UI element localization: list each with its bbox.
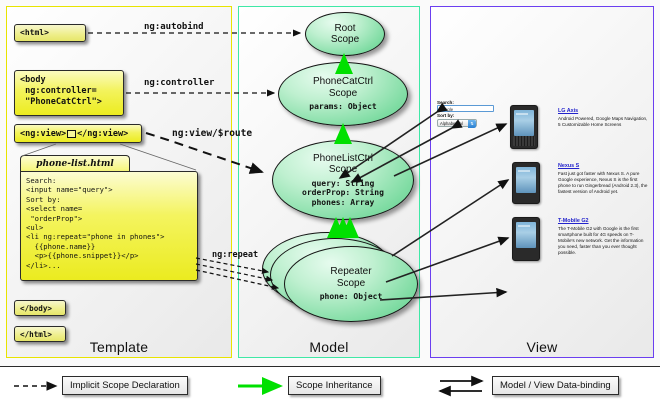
phone-snippet-t-mobile-g2: The T-Mobile G2 with Google is the first… <box>558 226 650 256</box>
phone-thumbnail-lg-axis <box>510 105 538 149</box>
search-input[interactable]: Google <box>437 105 494 112</box>
phone-thumbnail-t-mobile-g2 <box>512 217 540 261</box>
phone-screen <box>516 222 536 248</box>
scope-repeater-title-2: Scope <box>337 278 365 290</box>
legend-item-scope-inheritance: Scope Inheritance <box>288 376 381 394</box>
legend-label-scope-inheritance: Scope Inheritance <box>288 376 381 395</box>
legend: Implicit Scope Declaration Scope Inherit… <box>0 366 660 406</box>
ngview-placeholder-square <box>67 130 76 138</box>
scope-repeater-front: Repeater Scope phone: Object <box>284 246 418 322</box>
legend-item-data-binding: Model / View Data-binding <box>492 376 619 394</box>
scope-repeater-title-1: Repeater <box>330 266 371 278</box>
panel-title-view: View <box>431 339 653 355</box>
sort-label: Sort by: <box>437 113 499 118</box>
phone-keyboard <box>513 136 535 146</box>
code-box-body-close: </body> <box>14 300 66 316</box>
panel-title-model: Model <box>239 339 419 355</box>
phone-entry-lg-axis: LG Axis Android Powered, Google Maps Nav… <box>558 108 650 128</box>
legend-label-data-binding: Model / View Data-binding <box>492 376 619 395</box>
label-ng-view-route: ng:view/$route <box>172 128 252 139</box>
scope-phonelistctrl: PhoneListCtrl Scope query: String orderP… <box>272 140 414 220</box>
label-ng-repeat: ng:repeat <box>212 250 258 260</box>
scope-phonecatctrl-props: params: Object <box>309 102 376 112</box>
sort-select-value: Alphabetical <box>440 121 463 126</box>
scope-phonelistctrl-title-2: Scope <box>329 164 357 176</box>
code-box-ngview: <ng:view></ng:view> <box>14 124 142 143</box>
scope-phonelistctrl-title-1: PhoneListCtrl <box>313 153 373 165</box>
phone-screen <box>514 110 534 136</box>
view-search-form: Search: Google Sort by: Alphabetical ⇅ <box>437 100 499 127</box>
scope-phonecatctrl: PhoneCatCtrl Scope params: Object <box>278 62 408 126</box>
phone-entry-nexus-s: Nexus S Fast just got faster with Nexus … <box>558 163 650 195</box>
code-box-body-open: <body ng:controller= "PhoneCatCtrl"> <box>14 70 124 116</box>
scope-phonecatctrl-title-1: PhoneCatCtrl <box>313 76 373 88</box>
phone-link-nexus-s[interactable]: Nexus S <box>558 163 650 169</box>
code-box-html-open: <html> <box>14 24 86 42</box>
phone-snippet-nexus-s: Fast just got faster with Nexus S. A pur… <box>558 171 650 195</box>
phone-link-t-mobile-g2[interactable]: T-Mobile G2 <box>558 218 650 224</box>
scope-repeater-stack: Repeater Scope phone: Object <box>262 232 422 324</box>
legend-item-implicit-scope: Implicit Scope Declaration <box>62 376 188 394</box>
label-ng-controller: ng:controller <box>144 78 214 88</box>
phone-entry-t-mobile-g2: T-Mobile G2 The T-Mobile G2 with Google … <box>558 218 650 256</box>
scope-root-title-1: Root <box>334 23 355 35</box>
scope-repeater-props: phone: Object <box>320 292 383 302</box>
scope-phonecatctrl-title-2: Scope <box>329 88 357 100</box>
ngview-open-tag: <ng:view> <box>20 129 66 139</box>
diagram-canvas: Template Model View <html> <body ng:cont… <box>0 0 660 405</box>
code-box-html-close: </html> <box>14 326 66 342</box>
scope-root: Root Scope <box>305 12 385 56</box>
scope-phonelistctrl-props: query: String orderProp: String phones: … <box>302 179 384 208</box>
phone-link-lg-axis[interactable]: LG Axis <box>558 108 650 114</box>
template-file-card: phone-list.html Search: <input name="que… <box>20 155 198 295</box>
ngview-close-tag: </ng:view> <box>77 129 128 139</box>
sort-select[interactable]: Alphabetical ⇅ <box>437 119 477 127</box>
scope-root-title-2: Scope <box>331 34 359 46</box>
label-ng-autobind: ng:autobind <box>144 22 204 32</box>
phone-snippet-lg-axis: Android Powered, Google Maps Navigation,… <box>558 116 650 128</box>
legend-label-implicit-scope: Implicit Scope Declaration <box>62 376 188 395</box>
phone-screen <box>516 167 536 193</box>
chevron-updown-icon: ⇅ <box>468 120 476 128</box>
phone-thumbnail-nexus-s <box>512 162 540 204</box>
template-file-code: Search: <input name="query"> Sort by: <s… <box>20 171 198 281</box>
